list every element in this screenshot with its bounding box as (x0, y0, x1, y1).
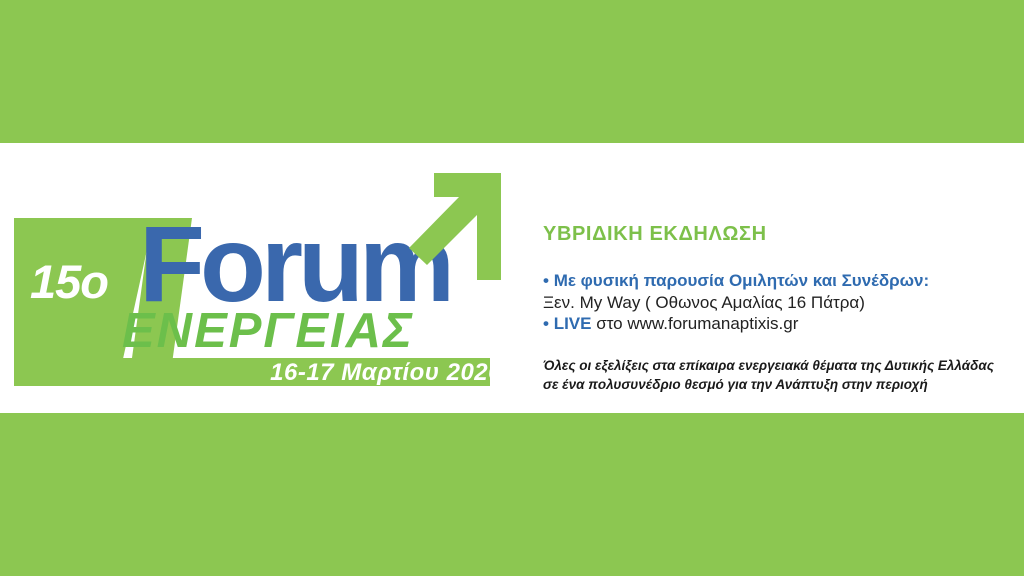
event-details-list: • Με φυσική παρουσία Ομιλητών και Συνέδρ… (543, 270, 1003, 335)
live-url-text[interactable]: στο www.forumanaptixis.gr (591, 314, 798, 333)
tagline-line-2: σε ένα πολυσυνέδριο θεσμό για την Ανάπτυ… (543, 375, 1003, 394)
event-tagline: Όλες οι εξελίξεις στα επίκαιρα ενεργειακ… (543, 356, 1003, 394)
hybrid-event-heading: ΥΒΡΙΔΙΚΗ ΕΚΔΗΛΩΣΗ (543, 222, 1003, 246)
forum-logo: 15o Forum ΕΝΕΡΓΕΙΑΣ 16-17 Μαρτίου 2026 (14, 155, 514, 390)
logo-event-dates: 16-17 Μαρτίου 2026 (270, 359, 502, 386)
detail-line-physical-presence: • Με φυσική παρουσία Ομιλητών και Συνέδρ… (543, 270, 1003, 292)
logo-wordmark-forum: Forum (139, 210, 450, 318)
event-banner: 15o Forum ΕΝΕΡΓΕΙΑΣ 16-17 Μαρτίου 2026 Υ… (0, 0, 1024, 576)
live-label: LIVE (554, 314, 592, 333)
bullet-icon: • (543, 271, 549, 290)
bullet-icon: • (543, 314, 549, 333)
logo-subtitle-energeias: ΕΝΕΡΓΕΙΑΣ (122, 307, 414, 356)
detail-physical-presence-text: Με φυσική παρουσία Ομιλητών και Συνέδρων… (554, 271, 929, 290)
detail-venue-text: Ξεν. My Way ( Οθωνος Αμαλίας 16 Πάτρα) (543, 293, 865, 312)
tagline-line-1: Όλες οι εξελίξεις στα επίκαιρα ενεργειακ… (543, 356, 1003, 375)
arrow-up-right-icon (409, 160, 519, 290)
logo-edition-number: 15o (30, 258, 108, 305)
event-info-block: ΥΒΡΙΔΙΚΗ ΕΚΔΗΛΩΣΗ • Με φυσική παρουσία Ο… (543, 222, 1003, 394)
detail-line-live: • LIVE στο www.forumanaptixis.gr (543, 313, 1003, 335)
detail-line-venue: Ξεν. My Way ( Οθωνος Αμαλίας 16 Πάτρα) (543, 292, 1003, 314)
